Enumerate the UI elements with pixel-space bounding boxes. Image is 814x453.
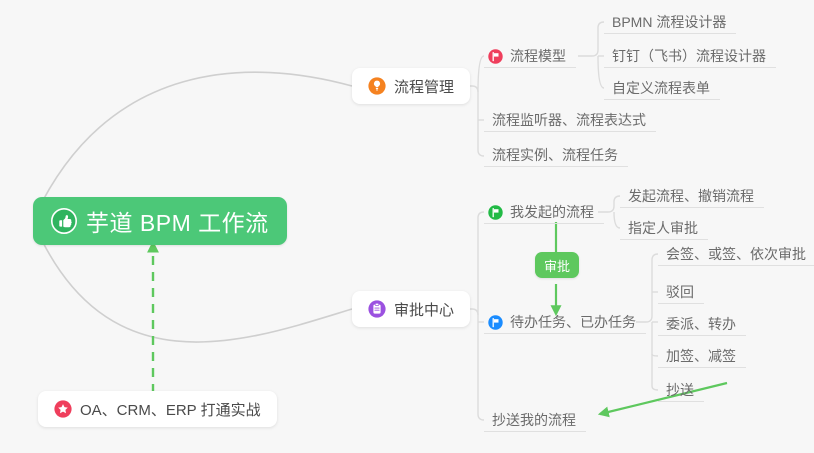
node-label: BPMN 流程设计器: [612, 11, 726, 33]
node-label: 驳回: [666, 281, 694, 303]
node-label: 我发起的流程: [510, 201, 594, 223]
node-delegate-transfer[interactable]: 委派、转办: [658, 308, 746, 336]
node-label: 指定人审批: [628, 217, 698, 239]
branch-process-management[interactable]: 流程管理: [352, 68, 470, 104]
node-dingtalk-feishu-designer[interactable]: 钉钉（飞书）流程设计器: [604, 40, 776, 68]
node-label: 钉钉（飞书）流程设计器: [612, 45, 766, 67]
clipboard-icon: [368, 300, 386, 318]
node-cc[interactable]: 抄送: [658, 374, 704, 402]
node-label: 自定义流程表单: [612, 77, 710, 99]
root-node[interactable]: 芋道 BPM 工作流: [33, 197, 287, 245]
node-label: 流程监听器、流程表达式: [492, 109, 646, 131]
annotation-label: 审批: [544, 256, 570, 275]
branch-approval-center[interactable]: 审批中心: [352, 291, 470, 327]
node-cc-my-process[interactable]: 抄送我的流程: [484, 404, 586, 432]
node-label: 抄送: [666, 379, 694, 401]
node-my-initiated-process[interactable]: 我发起的流程: [484, 196, 604, 224]
node-label: 发起流程、撤销流程: [628, 185, 754, 207]
node-custom-process-form[interactable]: 自定义流程表单: [604, 72, 720, 100]
node-label: 待办任务、已办任务: [510, 311, 636, 333]
node-bpmn-designer[interactable]: BPMN 流程设计器: [604, 6, 736, 34]
node-process-model[interactable]: 流程模型: [484, 40, 576, 68]
floating-node-integration[interactable]: OA、CRM、ERP 打通实战: [38, 391, 277, 427]
annotation-approval-badge: 审批: [535, 252, 579, 278]
star-icon: [54, 400, 72, 418]
edge-root-to-process-management: [36, 72, 352, 214]
node-reject[interactable]: 驳回: [658, 276, 704, 304]
node-start-cancel-process[interactable]: 发起流程、撤销流程: [620, 180, 764, 208]
node-instance-task[interactable]: 流程实例、流程任务: [484, 139, 628, 167]
node-add-remove-sign[interactable]: 加签、减签: [658, 340, 746, 368]
node-label: 加签、减签: [666, 345, 736, 367]
node-assignee-approval[interactable]: 指定人审批: [620, 212, 708, 240]
flag-icon: [488, 315, 503, 330]
branch-label: 流程管理: [394, 76, 454, 97]
lightbulb-pin-icon: [368, 77, 386, 95]
node-countersign-orsign-sequential[interactable]: 会签、或签、依次审批: [658, 238, 814, 266]
node-label: 会签、或签、依次审批: [666, 243, 806, 265]
floating-node-label: OA、CRM、ERP 打通实战: [80, 399, 261, 420]
edge-model-trunk: [578, 22, 604, 56]
node-todo-done-tasks[interactable]: 待办任务、已办任务: [484, 306, 646, 334]
edge-root-to-approval-center: [36, 228, 352, 342]
node-label: 流程实例、流程任务: [492, 144, 618, 166]
edge-ac-to-my-initiated: [478, 212, 484, 315]
node-label: 委派、转办: [666, 313, 736, 335]
mindmap-canvas: 芋道 BPM 工作流 流程管理 流程模型 BPMN 流程设计器 钉钉（飞书: [0, 0, 814, 453]
thumbs-up-icon: [51, 208, 77, 234]
branch-label: 审批中心: [394, 299, 454, 320]
flag-icon: [488, 205, 503, 220]
node-listener-expression[interactable]: 流程监听器、流程表达式: [484, 104, 656, 132]
node-label: 抄送我的流程: [492, 409, 576, 431]
root-label: 芋道 BPM 工作流: [86, 204, 269, 238]
flag-icon: [488, 49, 503, 64]
node-label: 流程模型: [510, 45, 566, 67]
